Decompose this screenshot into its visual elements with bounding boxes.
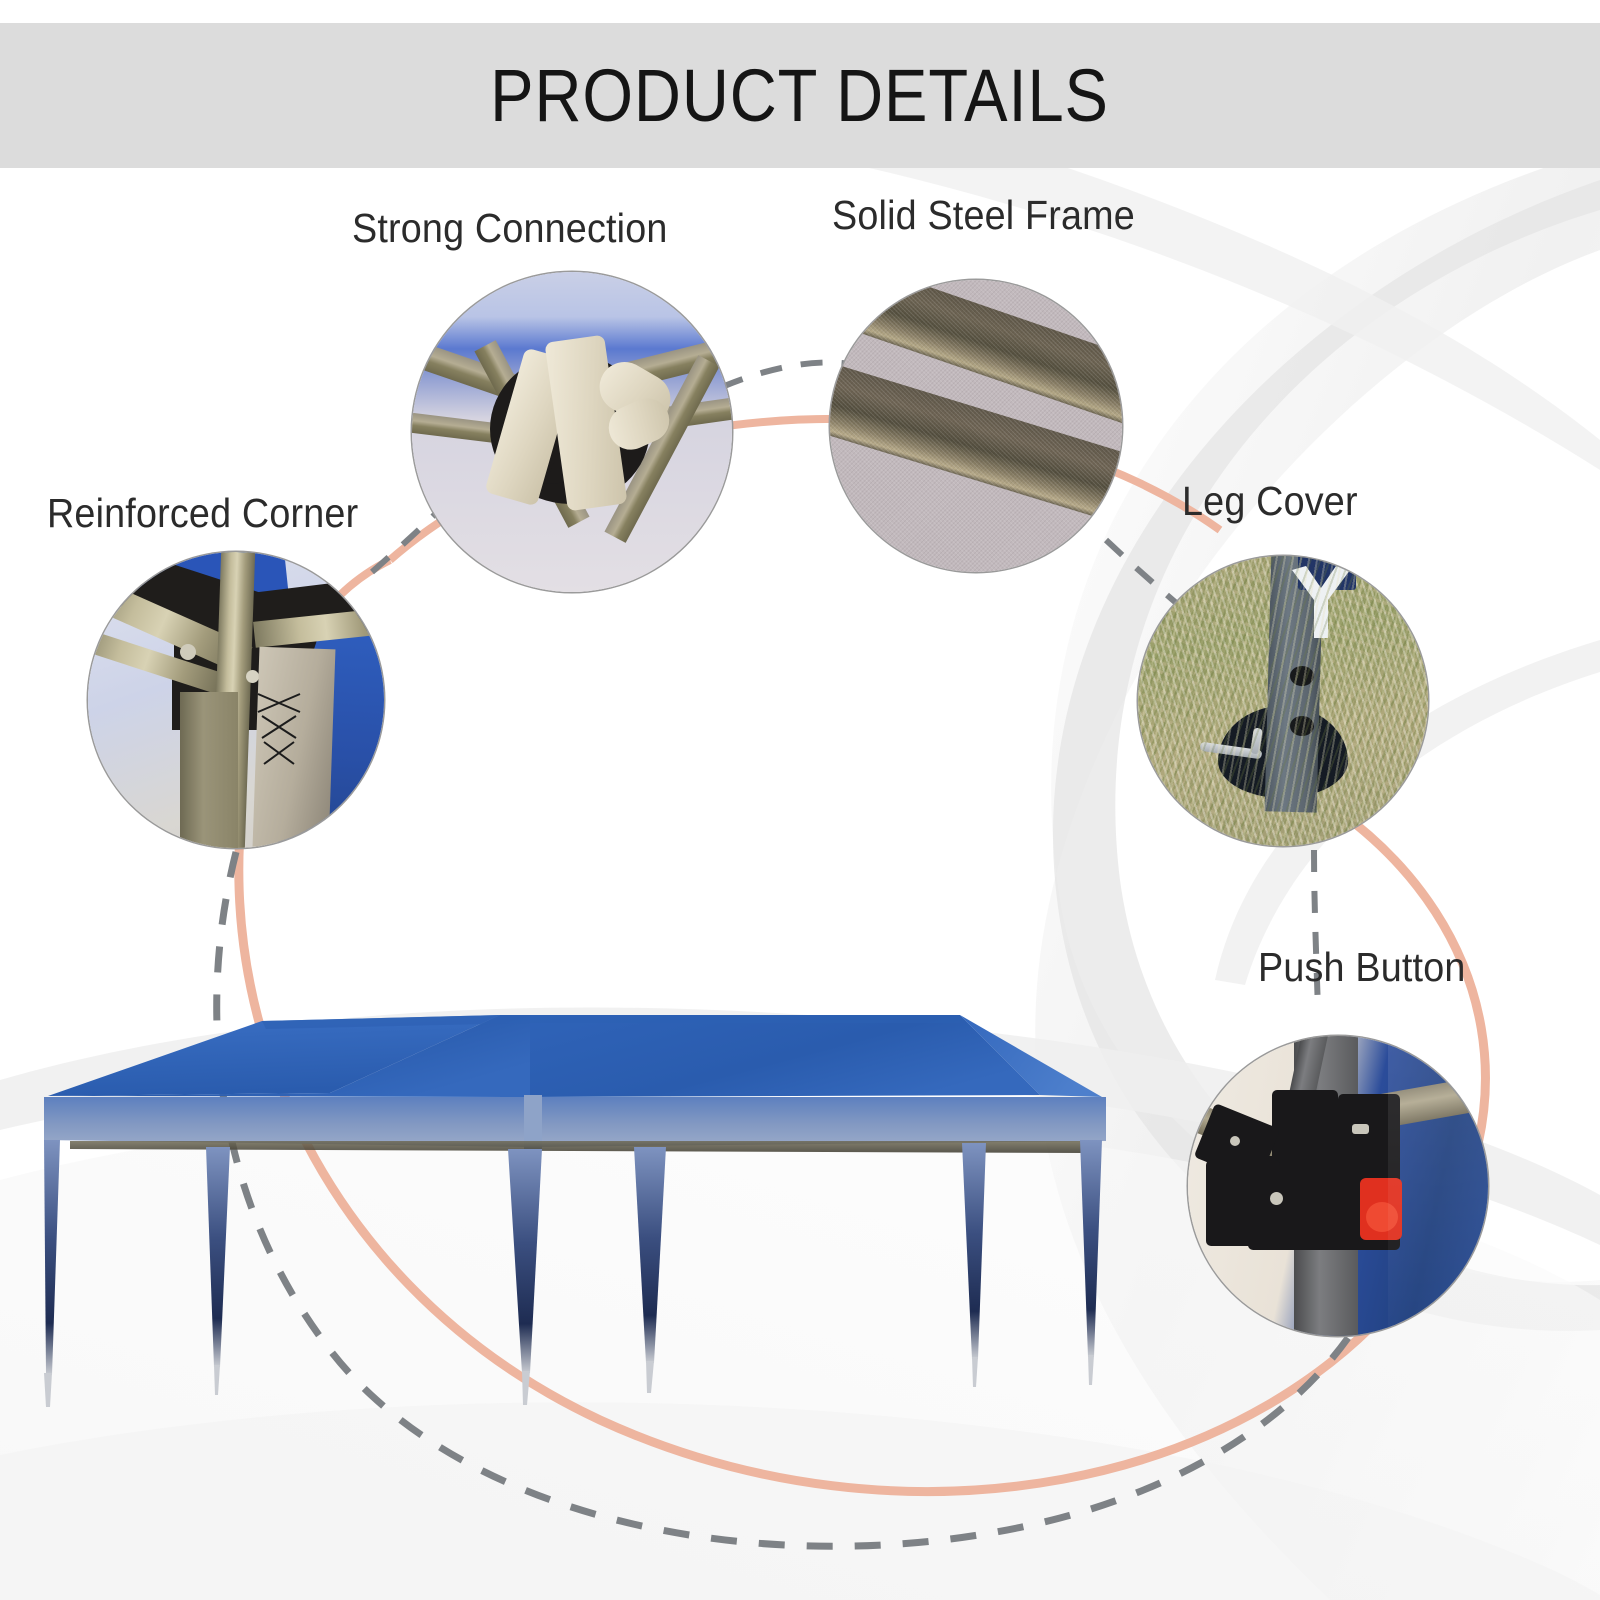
callout-label-push-button: Push Button bbox=[1258, 944, 1466, 991]
detail-photo-strong-connection bbox=[412, 272, 732, 592]
callout-label-strong-connection: Strong Connection bbox=[352, 205, 668, 252]
callout-label-reinforced-corner: Reinforced Corner bbox=[47, 490, 358, 537]
detail-photo-solid-steel-frame bbox=[830, 280, 1122, 572]
detail-photo-leg-cover bbox=[1138, 556, 1428, 846]
product-details-infographic: PRODUCT DETAILS Strong Connection Solid bbox=[0, 0, 1600, 1600]
gazebo-legs bbox=[44, 1140, 1102, 1407]
page-title: PRODUCT DETAILS bbox=[491, 53, 1110, 138]
header-band: PRODUCT DETAILS bbox=[0, 23, 1600, 168]
detail-photo-reinforced-corner bbox=[88, 552, 384, 848]
callout-label-solid-steel-frame: Solid Steel Frame bbox=[832, 192, 1135, 239]
detail-photo-push-button bbox=[1188, 1036, 1488, 1336]
product-photo-gazebo bbox=[30, 975, 1120, 1435]
callout-label-leg-cover: Leg Cover bbox=[1182, 478, 1358, 525]
gazebo-canopy-roof bbox=[48, 1015, 1102, 1097]
